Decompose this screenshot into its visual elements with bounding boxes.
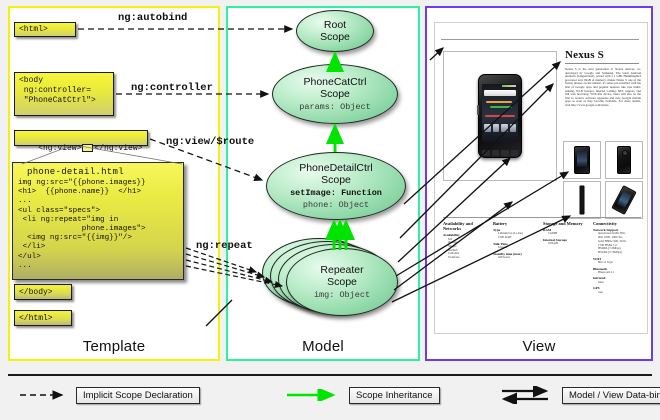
search-widget-icon (484, 90, 516, 96)
code-body-close-tag: </body> (14, 284, 72, 300)
column-label-template: Template (8, 338, 220, 355)
legend-item-implicit-scope: Implicit Scope Declaration (18, 386, 200, 404)
ngview-placeholder-icon (82, 144, 93, 152)
status-bar-icon (502, 85, 516, 87)
phone-render-icon (478, 74, 522, 158)
phone-edge-thumb-icon (580, 186, 585, 215)
spec-value: true (593, 291, 641, 295)
note-title: phone-detail.html (13, 163, 183, 179)
scope-repeater-name-2: Scope (327, 276, 357, 288)
spec-header: Battery (493, 221, 541, 226)
thumbnail-image-1[interactable] (563, 141, 601, 179)
product-main-image (443, 51, 557, 181)
phone-side-button-icon (477, 105, 479, 115)
scope-phonecatctrl-name-1: PhoneCatCtrl (303, 76, 366, 88)
spec-value: false (593, 281, 641, 285)
label-ng-repeat: ng:repeat (196, 240, 253, 252)
phone-back-thumb-icon (617, 146, 631, 174)
legend-label: Model / View Data-binding (562, 387, 660, 404)
scope-phonedetailctrl-attr-phone: phone: Object (303, 200, 369, 210)
thumbnail-image-4[interactable] (605, 181, 643, 219)
code-html-close-tag: </html> (14, 310, 72, 326)
scope-phonecatctrl-attr-params: params: Object (299, 102, 370, 112)
green-arrow-icon (285, 389, 343, 401)
code-ngview-tag: <ng:view></ng:view> (14, 130, 148, 146)
phone-tilted-thumb-icon (611, 185, 636, 215)
legend-label: Implicit Scope Declaration (76, 387, 200, 404)
column-label-model: Model (226, 338, 420, 355)
spec-header: Storage and Memory (543, 221, 591, 226)
spec-header: Availability and Networks (443, 221, 489, 231)
scope-phonecatctrl: PhoneCatCtrl Scope params: Object (272, 64, 398, 124)
product-title-underline (565, 63, 639, 64)
scope-root-name-2: Scope (320, 31, 350, 43)
label-ng-view-route: ng:view/$route (166, 136, 254, 148)
spec-column-battery: Battery Type Lithium Ion (Li-Ion) 1500 m… (493, 221, 541, 260)
phone-nav-buttons-icon (482, 150, 518, 156)
label-ng-autobind: ng:autobind (118, 12, 187, 24)
ngview-close-label: </ng:view> (94, 144, 142, 154)
label-ng-controller: ng:controller (131, 82, 213, 94)
spec-column-availability: Availability and Networks Availability M… (443, 221, 489, 260)
view-rendered-page: Nexus S Nexus S is the next generation o… (434, 22, 648, 334)
wallpaper-stripe-3 (485, 115, 515, 117)
scope-phonedetailctrl-name-1: PhoneDetailCtrl (299, 162, 373, 174)
phone-front-thumb-icon (574, 146, 590, 174)
spec-value: 512MB (543, 232, 591, 236)
code-html-open-tag: <html> (14, 22, 76, 37)
spec-table-divider (443, 217, 641, 218)
legend-item-data-binding: Model / View Data-binding (500, 386, 660, 404)
spec-value: 6 hours (493, 246, 541, 250)
spec-column-storage: Storage and Memory RAM 512MB Internal St… (543, 221, 591, 246)
scope-phonedetailctrl-name-2: Scope (321, 174, 351, 186)
code-note-phone-detail: phone-detail.html img ng:src="{{phone.im… (12, 162, 184, 280)
legend-item-scope-inheritance: Scope Inheritance (285, 386, 440, 404)
note-code: img ng:src="{{phone.images}} <h1> {{phon… (13, 179, 183, 271)
scope-root-name-1: Root (324, 19, 346, 31)
spec-column-connectivity: Connectivity Network Support Quad-band G… (593, 221, 641, 294)
code-body-tag: <body ng:controller= "PhoneCatCtrl"> (14, 72, 114, 116)
dashed-arrow-icon (18, 389, 70, 401)
scope-repeater-name-1: Repeater (320, 264, 363, 276)
wallpaper-stripe-1 (486, 101, 512, 103)
scope-repeater: Repeater Scope img: Object (286, 248, 398, 316)
legend-label: Scope Inheritance (349, 387, 440, 404)
ngview-open-label: <ng:view> (38, 144, 81, 154)
app-dock-icons (484, 124, 516, 132)
page-top-divider (441, 39, 639, 40)
diagram-canvas: <html> <body ng:controller= "PhoneCatCtr… (0, 0, 660, 420)
spec-value: 428 hours (493, 256, 541, 260)
double-arrow-icon (500, 386, 556, 404)
scope-root: Root Scope (296, 10, 374, 52)
spec-header: Connectivity (593, 221, 641, 226)
product-description: Nexus S is the next generation of Nexus … (565, 68, 641, 108)
phone-screen-icon (482, 84, 518, 142)
scope-phonecatctrl-name-2: Scope (320, 88, 350, 100)
spec-value: 16％GB (543, 242, 591, 246)
spec-value: Bluetooth 2.1 (593, 271, 641, 275)
scope-phonedetailctrl-attr-setimage: setImage: Function (290, 188, 382, 198)
scope-repeater-attr-img: img: Object (314, 290, 370, 300)
thumbnail-image-2[interactable] (605, 141, 643, 179)
spec-value: 1500 mAH (493, 236, 541, 240)
product-title: Nexus S (565, 49, 604, 61)
legend-divider (8, 374, 652, 376)
column-label-view: View (425, 338, 653, 355)
spec-value: 802.11 b/g/n (593, 261, 641, 265)
spec-value: Vodafone (443, 256, 489, 260)
spec-value: HSUPA (5.76Mbps) (593, 251, 641, 255)
scope-phonedetailctrl: PhoneDetailCtrl Scope setImage: Function… (266, 152, 406, 220)
wallpaper-stripe-2 (490, 106, 512, 108)
thumbnail-image-3[interactable] (563, 181, 601, 219)
